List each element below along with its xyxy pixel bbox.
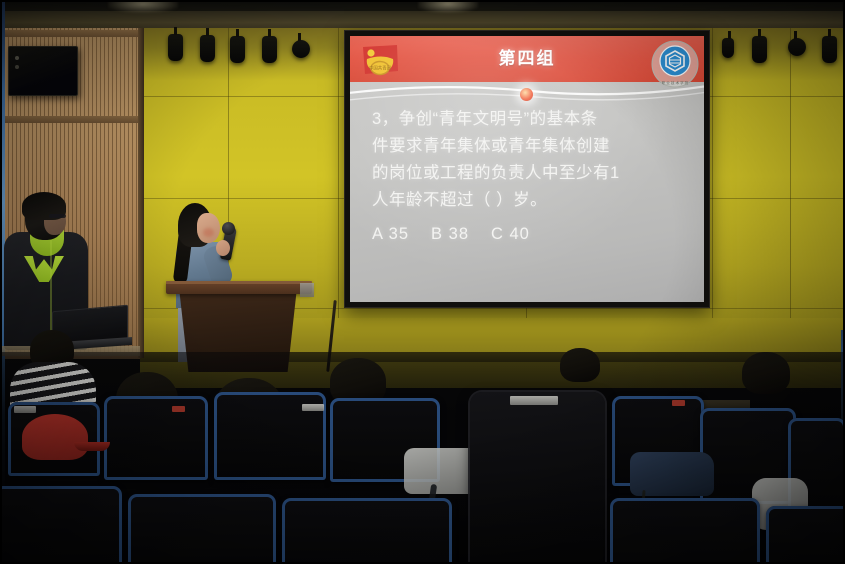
spotlight bbox=[722, 38, 734, 58]
seat[interactable] bbox=[128, 494, 276, 564]
seat[interactable] bbox=[0, 486, 122, 564]
seat-marker bbox=[672, 400, 685, 406]
slide-answer-options: A 35B 38C 40 bbox=[372, 225, 690, 244]
glasses-icon bbox=[49, 214, 66, 218]
answer-option-b: B 38 bbox=[431, 225, 469, 243]
seat-number-tag bbox=[510, 396, 558, 405]
slide-body: 3，争创“青年文明号”的基本条 件要求青年集体或青年集体创建 的岗位或工程的负责… bbox=[372, 106, 690, 244]
banner-accent-dot bbox=[520, 88, 533, 101]
audience-head bbox=[742, 352, 790, 394]
seat[interactable] bbox=[282, 498, 452, 564]
answer-option-c: C 40 bbox=[491, 225, 530, 243]
speaker-cheek-blush bbox=[203, 228, 214, 237]
seat-marker bbox=[172, 406, 185, 412]
spotlight bbox=[168, 34, 183, 61]
speaker-hand bbox=[216, 240, 230, 256]
wood-wall-edge bbox=[138, 28, 144, 358]
spotlight bbox=[262, 36, 277, 63]
wall-mounted-speaker bbox=[8, 46, 78, 96]
audience-head bbox=[560, 348, 600, 382]
wood-trim bbox=[0, 116, 140, 123]
spotlight bbox=[200, 35, 215, 62]
seat-number-tag bbox=[14, 406, 36, 413]
spotlight bbox=[788, 38, 806, 56]
spotlight bbox=[230, 36, 245, 63]
ceiling-light-glint bbox=[108, 0, 178, 13]
svg-text:中国共青团: 中国共青团 bbox=[369, 65, 392, 72]
slide-line: 件要求青年集体或青年集体创建 bbox=[372, 133, 690, 160]
podium-side-panel bbox=[300, 283, 314, 297]
spotlight bbox=[822, 36, 837, 63]
slide-line: 3，争创“青年文明号”的基本条 bbox=[372, 106, 690, 133]
projection-screen: 第四组 中国共青团 · 职 业 技 术 学 院 · 3，争创“青年文明号” bbox=[350, 36, 704, 302]
seat[interactable] bbox=[766, 506, 845, 564]
red-cap-brim bbox=[74, 442, 110, 451]
red-cap bbox=[22, 414, 88, 460]
photo-scene: 第四组 中国共青团 · 职 业 技 术 学 院 · 3，争创“青年文明号” bbox=[0, 0, 845, 564]
seat-number-tag bbox=[302, 404, 324, 411]
seat[interactable] bbox=[104, 396, 208, 480]
answer-option-a: A 35 bbox=[372, 225, 409, 243]
spotlight bbox=[752, 36, 767, 63]
school-seal-emblem: · 职 业 技 术 学 院 · bbox=[650, 39, 700, 89]
foreground-seat[interactable] bbox=[470, 392, 605, 564]
ceiling-light-glint bbox=[418, 0, 478, 13]
communist-youth-league-emblem: 中国共青团 bbox=[357, 41, 403, 87]
slide-line: 人年龄不超过（ ）岁。 bbox=[372, 187, 690, 214]
spotlight bbox=[292, 40, 310, 58]
wood-trim bbox=[0, 30, 140, 37]
podium-top-highlight bbox=[166, 281, 312, 284]
svg-text:· 职 业 技 术 学 院 ·: · 职 业 技 术 学 院 · bbox=[660, 80, 691, 85]
seat[interactable] bbox=[610, 498, 760, 564]
slide-line: 的岗位或工程的负责人中至少有1 bbox=[372, 160, 690, 187]
